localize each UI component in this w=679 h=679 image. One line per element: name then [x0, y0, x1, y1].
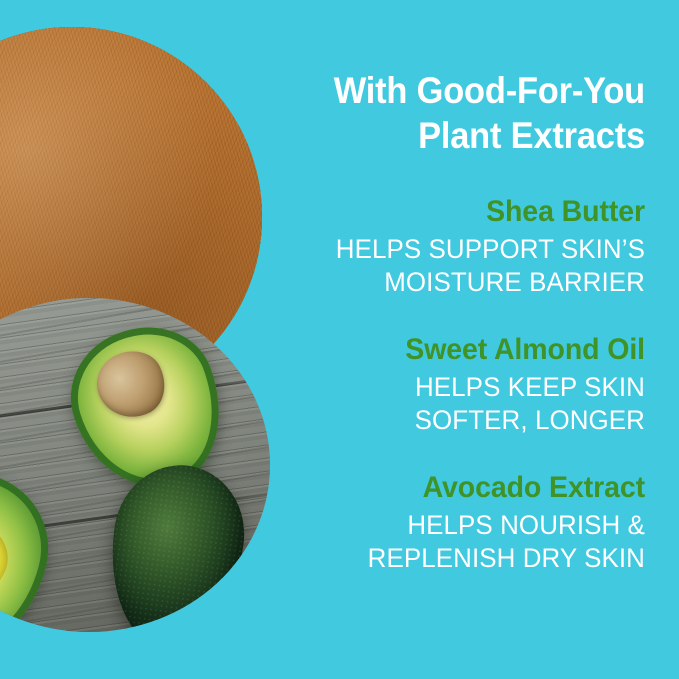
ingredient-name: Shea Butter: [296, 194, 645, 230]
avocados-photo: [0, 298, 270, 632]
ingredient-benefit: HELPS KEEP SKIN SOFTER, LONGER: [293, 371, 645, 437]
ingredient-name: Sweet Almond Oil: [296, 332, 645, 368]
text-panel: With Good-For-You Plant Extracts Shea Bu…: [278, 0, 645, 679]
ingredient-block-sweet-almond-oil: Sweet Almond Oil HELPS KEEP SKIN SOFTER,…: [278, 332, 645, 437]
ingredient-benefit: HELPS NOURISH & REPLENISH DRY SKIN: [293, 509, 645, 575]
ingredient-block-shea-butter: Shea Butter HELPS SUPPORT SKIN’S MOISTUR…: [278, 194, 645, 299]
ingredient-block-avocado-extract: Avocado Extract HELPS NOURISH & REPLENIS…: [278, 470, 645, 575]
product-infographic: With Good-For-You Plant Extracts Shea Bu…: [0, 0, 679, 679]
ingredient-name: Avocado Extract: [296, 470, 645, 506]
avocado-pit: [87, 341, 175, 429]
ingredient-benefit: HELPS SUPPORT SKIN’S MOISTURE BARRIER: [293, 233, 645, 299]
avocado-pit-hollow: [0, 505, 19, 612]
page-title: With Good-For-You Plant Extracts: [304, 68, 645, 158]
